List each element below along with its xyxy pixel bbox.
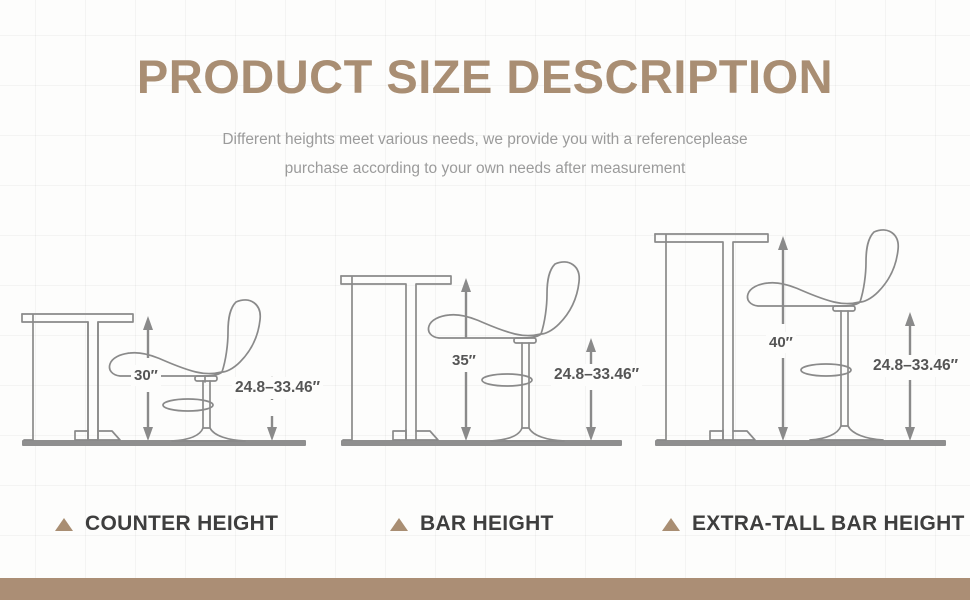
panel-counter-height: 30″ 24.8–33.46″ [0, 0, 323, 600]
table-height-label-1: 30″ [131, 365, 161, 386]
stool-height-label-2: 24.8–33.46″ [551, 364, 642, 386]
panel-bar-height: 35″ 24.8–33.46″ [323, 0, 646, 600]
stool-height-label-3: 24.8–33.46″ [870, 355, 961, 377]
table-height-label-2: 35″ [449, 350, 479, 371]
stool-dimension-arrow-2 [586, 338, 596, 441]
triangle-marker-icon [55, 518, 73, 531]
table-height-label-3: 40″ [766, 332, 796, 353]
legend: COUNTER HEIGHT BAR HEIGHT EXTRA-TALL BAR… [0, 512, 970, 544]
triangle-marker-icon [662, 518, 680, 531]
legend-item-counter-height: COUNTER HEIGHT [55, 512, 278, 536]
panel-3-drawing [646, 228, 970, 452]
triangle-marker-icon [390, 518, 408, 531]
legend-label-counter-height: COUNTER HEIGHT [85, 512, 278, 536]
panel-extra-tall-bar-height: 40″ 24.8–33.46″ [646, 0, 970, 600]
table-illustration-3 [655, 234, 768, 440]
table-illustration-2 [341, 276, 451, 440]
legend-label-extra-tall-bar-height: EXTRA-TALL BAR HEIGHT [692, 512, 965, 536]
table-illustration-1 [22, 314, 133, 440]
panel-1-drawing [0, 300, 323, 452]
legend-item-extra-tall-bar-height: EXTRA-TALL BAR HEIGHT [662, 512, 965, 536]
panel-2-drawing [323, 262, 646, 452]
infographic-canvas: PRODUCT SIZE DESCRIPTION Different heigh… [0, 0, 970, 600]
stool-height-label-1: 24.8–33.46″ [232, 377, 323, 399]
diagram-panels: 30″ 24.8–33.46″ [0, 0, 970, 600]
footer-accent-bar [0, 578, 970, 600]
legend-label-bar-height: BAR HEIGHT [420, 512, 554, 536]
legend-item-bar-height: BAR HEIGHT [390, 512, 554, 536]
